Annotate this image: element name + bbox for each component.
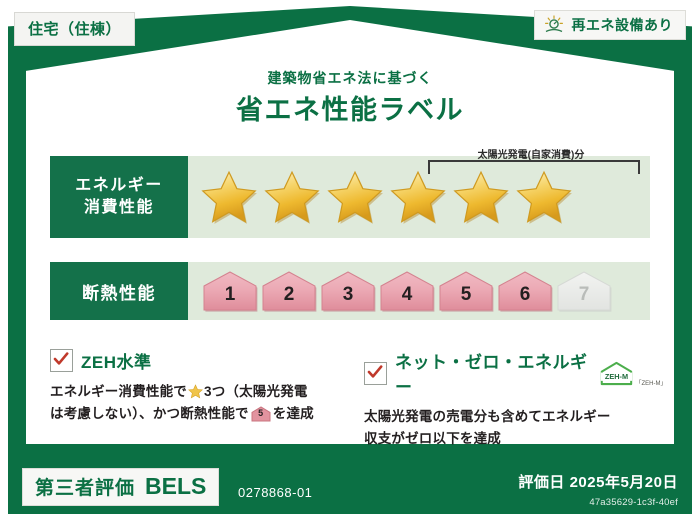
insulation-grade-number: 7 bbox=[579, 284, 590, 312]
insulation-grade-number: 2 bbox=[284, 284, 295, 312]
renewable-equipment-badge: 再エネ設備あり bbox=[534, 10, 687, 40]
check-icon bbox=[366, 363, 384, 381]
zeh-m-logo-caption: 「ZEH-M」 bbox=[636, 378, 665, 387]
evaluation-date-label: 評価日 bbox=[518, 474, 565, 491]
energy-label-line2: 消費性能 bbox=[84, 197, 154, 219]
star-icon bbox=[263, 168, 321, 226]
solar-bracket bbox=[428, 160, 640, 174]
zeh-m-logo-text: ZEH-M bbox=[604, 372, 627, 381]
bels-number: 0278868-01 bbox=[238, 485, 312, 500]
star-icon bbox=[452, 168, 510, 226]
energy-performance-label: 住宅（住棟） 再エネ設備あり 建築物省エネ法に基づく 省エネ性能ラベル エネルギ… bbox=[0, 0, 700, 520]
zeh-m-house-icon: ZEH-M bbox=[599, 360, 634, 387]
insulation-grade-scale: 1234567 bbox=[188, 270, 612, 312]
inline-grade-badge: 5 bbox=[251, 406, 271, 422]
insulation-grade-3: 3 bbox=[320, 270, 376, 312]
inline-star-icon bbox=[188, 384, 203, 399]
energy-performance-label-key: エネルギー 消費性能 bbox=[50, 156, 188, 238]
solar-generation-note: 太陽光発電(自家消費)分 bbox=[416, 146, 646, 161]
net-zero-body-line1: 太陽光発電の売電分も含めてエネルギー bbox=[364, 409, 611, 424]
insulation-grade-2: 2 bbox=[261, 270, 317, 312]
zeh-checkbox bbox=[50, 349, 73, 372]
insulation-performance-value: 1234567 bbox=[188, 262, 650, 320]
criteria-net-zero-body: 太陽光発電の売電分も含めてエネルギー 収支がゼロ以下を達成 bbox=[364, 406, 664, 450]
check-icon bbox=[52, 350, 70, 368]
building-type-chip: 住宅（住棟） bbox=[14, 12, 135, 46]
renewable-badge-text: 再エネ設備あり bbox=[572, 15, 674, 35]
label-footer: 第三者評価 BELS 0278868-01 評価日 2025年5月20日 47a… bbox=[0, 458, 700, 520]
evaluation-date-value: 2025年5月20日 bbox=[570, 474, 678, 491]
building-type-text: 住宅（住棟） bbox=[28, 21, 121, 38]
insulation-grade-number: 5 bbox=[461, 284, 472, 312]
insulation-performance-label-key: 断熱性能 bbox=[50, 262, 188, 320]
energy-label-line1: エネルギー bbox=[75, 175, 163, 197]
insulation-label-text: 断熱性能 bbox=[82, 279, 156, 304]
star-icon bbox=[326, 168, 384, 226]
insulation-grade-4: 4 bbox=[379, 270, 435, 312]
insulation-grade-number: 4 bbox=[402, 284, 413, 312]
solar-sun-icon bbox=[543, 15, 565, 35]
bels-jp-text: 第三者評価 bbox=[35, 473, 135, 500]
inline-grade-number: 5 bbox=[251, 406, 271, 422]
star-icon bbox=[200, 168, 258, 226]
insulation-grade-1: 1 bbox=[202, 270, 258, 312]
net-zero-checkbox bbox=[364, 362, 387, 385]
insulation-grade-7: 7 bbox=[556, 270, 612, 312]
insulation-grade-number: 6 bbox=[520, 284, 531, 312]
insulation-performance-row: 断熱性能 1234567 bbox=[50, 262, 650, 320]
bels-evaluation-box: 第三者評価 BELS bbox=[22, 468, 219, 506]
zeh-body-part1: エネルギー消費性能で bbox=[50, 384, 187, 399]
star-icon bbox=[389, 168, 447, 226]
criteria-zeh-header: ZEH水準 bbox=[50, 348, 350, 373]
evaluation-date: 評価日 2025年5月20日 bbox=[518, 471, 678, 492]
label-subtitle: 建築物省エネ法に基づく bbox=[0, 68, 700, 88]
criteria-zeh-title: ZEH水準 bbox=[81, 348, 152, 373]
label-title: 省エネ性能ラベル bbox=[0, 88, 700, 127]
zeh-body-part3: を達成 bbox=[273, 406, 314, 421]
insulation-grade-6: 6 bbox=[497, 270, 553, 312]
criteria-net-zero: ネット・ゼロ・エネルギー ZEH-M 「ZEH-M」 太陽光発電の売電分も含めて… bbox=[364, 348, 664, 450]
insulation-grade-number: 3 bbox=[343, 284, 354, 312]
insulation-grade-5: 5 bbox=[438, 270, 494, 312]
zeh-m-logo: ZEH-M 「ZEH-M」 bbox=[599, 360, 664, 387]
zeh-body-stars: 3つ（太陽光発電 bbox=[204, 384, 308, 399]
insulation-grade-number: 1 bbox=[225, 284, 236, 312]
criteria-net-zero-header: ネット・ゼロ・エネルギー ZEH-M 「ZEH-M」 bbox=[364, 348, 664, 398]
star-rating bbox=[188, 168, 573, 226]
criteria-zeh: ZEH水準 エネルギー消費性能で3つ（太陽光発電は考慮しない）、かつ断熱性能で5… bbox=[50, 348, 350, 425]
star-icon bbox=[515, 168, 573, 226]
bels-en-text: BELS bbox=[145, 473, 206, 500]
zeh-body-part2: は考慮しない）、かつ断熱性能で bbox=[50, 406, 249, 421]
net-zero-body-line2: 収支がゼロ以下を達成 bbox=[364, 431, 501, 446]
criteria-zeh-body: エネルギー消費性能で3つ（太陽光発電は考慮しない）、かつ断熱性能で5を達成 bbox=[50, 381, 350, 425]
criteria-net-zero-title: ネット・ゼロ・エネルギー bbox=[395, 348, 589, 398]
evaluation-hash: 47a35629-1c3f-40ef bbox=[589, 497, 678, 508]
